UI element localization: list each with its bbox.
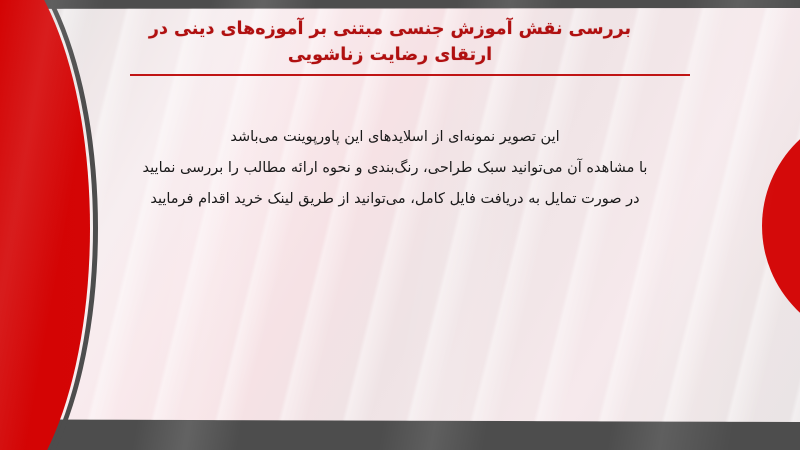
slide-content-panel: [26, 8, 800, 422]
slide-title-line-1: بررسی نقش آموزش جنسی مبتنی بر آموزه‌های …: [60, 16, 720, 42]
presentation-slide: بررسی نقش آموزش جنسی مبتنی بر آموزه‌های …: [0, 0, 800, 450]
slide-body-text: این تصویر نمونه‌ای از اسلایدهای این پاور…: [70, 122, 720, 215]
slide-body-line-3: در صورت تمایل به دریافت فایل کامل، می‌تو…: [70, 184, 720, 215]
slide-body-line-2: با مشاهده آن می‌توانید سبک طراحی، رنگ‌بن…: [70, 153, 720, 184]
slide-title-line-2: ارتقای رضایت زناشویی: [60, 42, 720, 68]
slide-body-line-1: این تصویر نمونه‌ای از اسلایدهای این پاور…: [70, 122, 720, 153]
title-underline-rule: [130, 74, 690, 76]
slide-title: بررسی نقش آموزش جنسی مبتنی بر آموزه‌های …: [60, 16, 720, 68]
